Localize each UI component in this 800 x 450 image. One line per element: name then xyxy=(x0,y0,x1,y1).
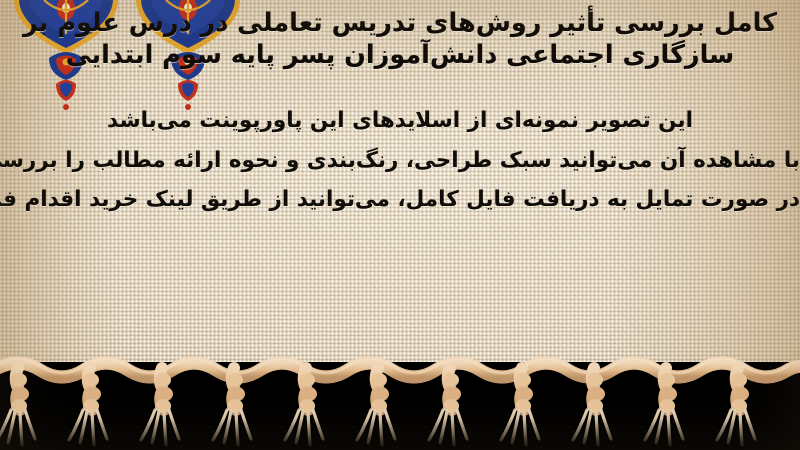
powerpoint-slide: کامل بررسی تأثیر روش‌های تدریس تعاملی در… xyxy=(0,0,800,450)
body-line-2: با مشاهده آن می‌توانید سبک طراحی، رنگ‌بن… xyxy=(0,141,800,181)
title-line-1: کامل بررسی تأثیر روش‌های تدریس تعاملی در… xyxy=(0,8,800,40)
slide-body: این تصویر نمونه‌ای از اسلایدهای این پاور… xyxy=(0,101,800,220)
title-line-2: سازگاری اجتماعی دانش‌آموزان پسر پایه سوم… xyxy=(0,40,800,72)
body-line-1: این تصویر نمونه‌ای از اسلایدهای این پاور… xyxy=(0,101,800,141)
body-line-3: در صورت تمایل به دریافت فایل کامل، می‌تو… xyxy=(0,180,800,220)
slide-text: کامل بررسی تأثیر روش‌های تدریس تعاملی در… xyxy=(0,0,800,220)
fringe-tassels-icon xyxy=(0,340,800,450)
slide-title: کامل بررسی تأثیر روش‌های تدریس تعاملی در… xyxy=(0,0,800,71)
carpet-fringe xyxy=(0,340,800,450)
